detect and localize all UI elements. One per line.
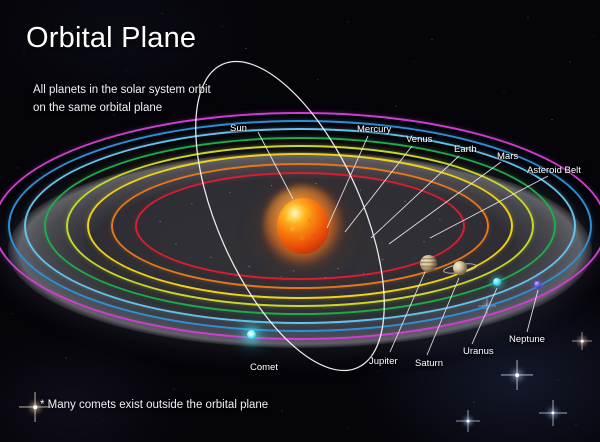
label-comet: Comet — [250, 362, 278, 373]
leader-jupiter — [390, 272, 425, 352]
label-jupiter: Jupiter — [369, 356, 398, 367]
vector-overlay — [0, 0, 600, 442]
footnote-text: * Many comets exist outside the orbital … — [40, 399, 268, 411]
leader-venus — [345, 146, 412, 232]
label-mars: Mars — [497, 151, 518, 162]
label-neptune: Neptune — [509, 334, 545, 345]
label-sun: Sun — [230, 123, 247, 134]
leader-saturn — [427, 278, 459, 355]
leader-neptune — [527, 290, 538, 332]
leader-sun — [258, 132, 293, 199]
leader-uranus — [472, 288, 497, 344]
label-earth: Earth — [454, 144, 477, 155]
leader-lines — [258, 132, 548, 355]
label-venus: Venus — [406, 134, 432, 145]
label-saturn: Saturn — [415, 358, 443, 369]
leader-mercury — [327, 136, 368, 228]
subtitle-text: All planets in the solar system orbit on… — [33, 82, 218, 118]
page-title: Orbital Plane — [26, 22, 196, 55]
leader-asteroid — [430, 176, 548, 238]
label-uranus: Uranus — [463, 346, 494, 357]
label-asteroid-belt: Asteroid Belt — [527, 165, 581, 176]
orbital-plane-diagram: Orbital Plane All planets in the solar s… — [0, 0, 600, 442]
leader-earth — [371, 156, 459, 238]
leader-mars — [389, 162, 501, 244]
label-mercury: Mercury — [357, 124, 391, 135]
